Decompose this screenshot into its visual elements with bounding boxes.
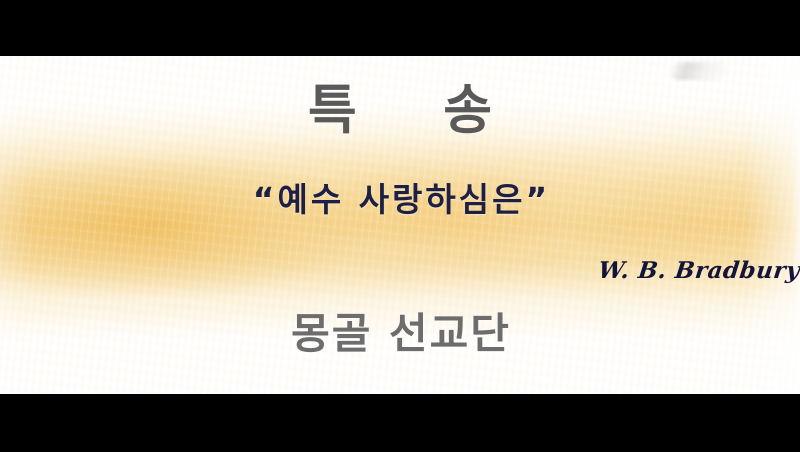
slide-group-name: 몽골 선교단 [0, 311, 800, 357]
slide-title: 특 송 [0, 82, 800, 139]
watermark-smudge-icon [672, 62, 728, 80]
slide-song-subtitle: “예수 사랑하심은” [0, 182, 800, 218]
video-frame: 특 송 “예수 사랑하심은” W. B. Bradbury 몽골 선교단 [0, 0, 800, 452]
letterbox-bar-top [0, 0, 800, 56]
slide-composer-credit: W. B. Bradbury [0, 258, 800, 283]
presentation-slide: 특 송 “예수 사랑하심은” W. B. Bradbury 몽골 선교단 [0, 56, 800, 394]
letterbox-bar-bottom [0, 394, 800, 452]
